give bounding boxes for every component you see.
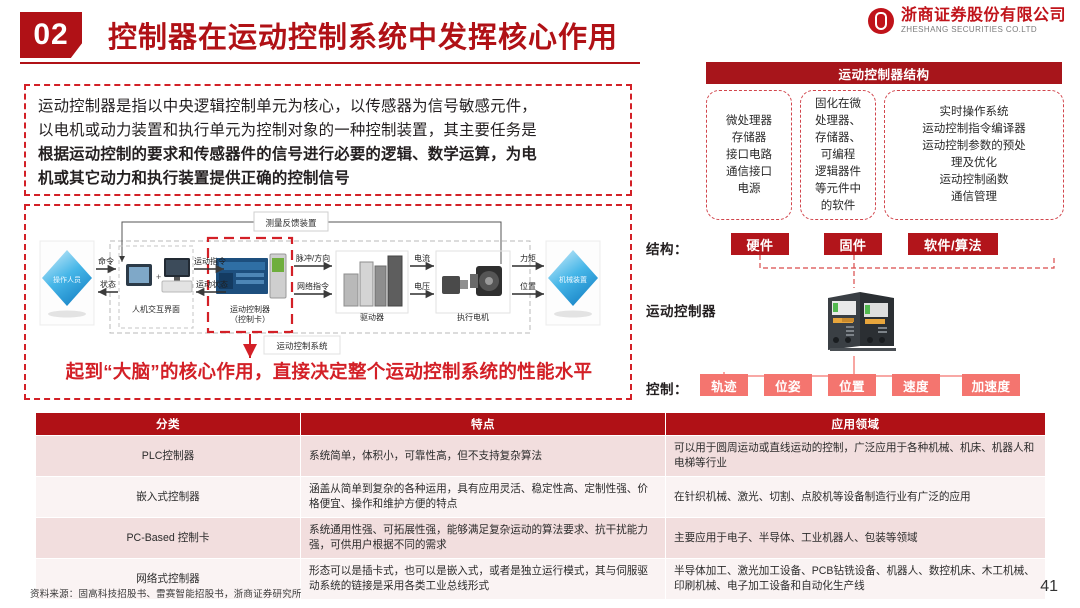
controller-comparison-table: 分类 特点 应用领域 PLC控制器 系统简单，体积小，可靠性高，但不支持复杂算法… xyxy=(35,412,1046,600)
software-item-0: 实时操作系统 xyxy=(940,104,1009,121)
definition-line-2: 以电机或动力装置和执行单元为控制对象的一种控制装置，其主要任务是 xyxy=(38,119,618,143)
svg-text:状态: 状态 xyxy=(100,279,116,289)
label-motion-controller: 运动控制器 xyxy=(646,300,716,320)
zheshang-logo-icon xyxy=(868,8,894,34)
cell-feature: 系统通用性强、可拓展性强，能够满足复杂运动的算法要求、抗干扰能力强，可供用户根据… xyxy=(301,518,666,559)
svg-text:运动控制器: 运动控制器 xyxy=(230,304,270,314)
firmware-item-2: 存储器、 xyxy=(815,130,861,147)
svg-text:运动指令: 运动指令 xyxy=(194,256,226,266)
control-item-pose: 位姿 xyxy=(764,374,812,396)
table-header-application: 应用领域 xyxy=(666,413,1046,436)
source-note: 资料来源：固高科技招股书、雷赛智能招股书，浙商证券研究所 xyxy=(30,586,302,600)
svg-text:位置: 位置 xyxy=(520,281,536,291)
cell-application: 在针织机械、激光、切割、点胶机等设备制造行业有广泛的应用 xyxy=(666,477,1046,518)
firmware-item-4: 逻辑器件 xyxy=(815,164,861,181)
control-item-trajectory: 轨迹 xyxy=(700,374,748,396)
svg-text:力矩: 力矩 xyxy=(520,253,536,263)
control-item-speed: 速度 xyxy=(892,374,940,396)
structure-column-firmware: 固化在微 处理器、 存储器、 可编程 逻辑器件 等元件中 的软件 xyxy=(800,90,876,220)
svg-text:网络指令: 网络指令 xyxy=(297,281,329,291)
hardware-item-0: 微处理器 xyxy=(726,113,772,130)
table-row: PLC控制器 系统简单，体积小，可靠性高，但不支持复杂算法 可以用于圆周运动或直… xyxy=(36,436,1046,477)
svg-text:执行电机: 执行电机 xyxy=(457,312,489,322)
software-item-1: 运动控制指令编译器 xyxy=(922,121,1026,138)
flow-diagram-panel: 测量反馈装置 操作人员 + 人机交互界面 运动控制器 xyxy=(24,204,632,400)
software-item-4: 运动控制函数 xyxy=(940,172,1009,189)
cell-application: 半导体加工、激光加工设备、PCB钻铣设备、机器人、数控机床、木工机械、印刷机械、… xyxy=(666,559,1046,600)
tag-hardware: 硬件 xyxy=(731,233,789,255)
hardware-item-1: 存储器 xyxy=(732,130,767,147)
svg-text:驱动器: 驱动器 xyxy=(360,312,384,322)
table-header-row: 分类 特点 应用领域 xyxy=(36,413,1046,436)
cell-application: 可以用于圆周运动或直线运动的控制，广泛应用于各种机械、机床、机器人和电梯等行业 xyxy=(666,436,1046,477)
title-underline xyxy=(20,62,640,64)
logo-company-en: ZHESHANG SECURITIES CO.LTD xyxy=(901,25,1066,35)
svg-text:操作人员: 操作人员 xyxy=(53,275,81,284)
definition-line-4: 机或其它动力和执行装置提供正确的控制信号 xyxy=(38,167,618,191)
svg-text:人机交互界面: 人机交互界面 xyxy=(132,304,180,314)
svg-text:运动状态: 运动状态 xyxy=(196,279,228,289)
page-number: 41 xyxy=(1040,578,1058,596)
definition-line-3: 根据运动控制的要求和传感器件的信号进行必要的逻辑、数学运算，为电 xyxy=(38,143,618,167)
hardware-item-3: 通信接口 xyxy=(726,164,772,181)
cell-category: PC-Based 控制卡 xyxy=(36,518,301,559)
motion-control-flow-diagram: 测量反馈装置 操作人员 + 人机交互界面 运动控制器 xyxy=(26,206,630,366)
company-logo: 浙商证券股份有限公司 ZHESHANG SECURITIES CO.LTD xyxy=(868,8,1066,34)
definition-callout: 运动控制器是指以中央逻辑控制单元为核心，以传感器为信号敏感元件， 以电机或动力装… xyxy=(24,84,632,196)
software-item-3: 理及优化 xyxy=(951,155,997,172)
software-item-5: 通信管理 xyxy=(951,189,997,206)
structure-panel-title: 运动控制器结构 xyxy=(706,62,1062,84)
firmware-item-6: 的软件 xyxy=(821,198,856,215)
cell-feature: 涵盖从简单到复杂的各种运用，具有应用灵活、稳定性高、定制性强、价格便宜、操作和维… xyxy=(301,477,666,518)
slide-root: 02 控制器在运动控制系统中发挥核心作用 浙商证券股份有限公司 ZHESHANG… xyxy=(0,0,1080,608)
section-number-badge: 02 xyxy=(20,12,82,58)
cell-application: 主要应用于电子、半导体、工业机器人、包装等领域 xyxy=(666,518,1046,559)
cell-category: 嵌入式控制器 xyxy=(36,477,301,518)
svg-text:电流: 电流 xyxy=(414,253,430,263)
firmware-item-3: 可编程 xyxy=(821,147,856,164)
definition-line-1: 运动控制器是指以中央逻辑控制单元为核心，以传感器为信号敏感元件， xyxy=(38,95,618,119)
software-item-2: 运动控制参数的预处 xyxy=(922,138,1026,155)
control-item-position: 位置 xyxy=(828,374,876,396)
svg-text:运动控制系统: 运动控制系统 xyxy=(276,341,328,351)
svg-text:测量反馈装置: 测量反馈装置 xyxy=(265,218,317,228)
firmware-item-0: 固化在微 xyxy=(815,96,861,113)
hardware-item-4: 电源 xyxy=(738,181,761,198)
cell-category: PLC控制器 xyxy=(36,436,301,477)
logo-company-cn: 浙商证券股份有限公司 xyxy=(901,8,1066,25)
svg-text:命令: 命令 xyxy=(98,256,114,266)
page-title: 控制器在运动控制系统中发挥核心作用 xyxy=(108,14,618,56)
hardware-item-2: 接口电路 xyxy=(726,147,772,164)
table-header-category: 分类 xyxy=(36,413,301,436)
firmware-item-1: 处理器、 xyxy=(815,113,861,130)
motion-controller-device-image xyxy=(820,288,906,354)
cell-feature: 形态可以是插卡式，也可以是嵌入式，或者是独立运行模式，其与伺服驱动系统的链接是采… xyxy=(301,559,666,600)
svg-text:电压: 电压 xyxy=(414,281,430,291)
label-structure: 结构： xyxy=(646,238,688,258)
svg-text:机械装置: 机械装置 xyxy=(559,275,587,284)
structure-column-hardware: 微处理器 存储器 接口电路 通信接口 电源 xyxy=(706,90,792,220)
structure-column-software: 实时操作系统 运动控制指令编译器 运动控制参数的预处 理及优化 运动控制函数 通… xyxy=(884,90,1064,220)
table-row: 嵌入式控制器 涵盖从简单到复杂的各种运用，具有应用灵活、稳定性高、定制性强、价格… xyxy=(36,477,1046,518)
key-takeaway-text: 起到“大脑”的核心作用，直接决定整个运动控制系统的性能水平 xyxy=(40,358,618,384)
table-row: PC-Based 控制卡 系统通用性强、可拓展性强，能够满足复杂运动的算法要求、… xyxy=(36,518,1046,559)
tag-firmware: 固件 xyxy=(824,233,882,255)
control-item-acceleration: 加速度 xyxy=(962,374,1020,396)
cell-feature: 系统简单，体积小，可靠性高，但不支持复杂算法 xyxy=(301,436,666,477)
logo-text-block: 浙商证券股份有限公司 ZHESHANG SECURITIES CO.LTD xyxy=(901,8,1066,34)
svg-text:（控制卡）: （控制卡） xyxy=(230,314,270,324)
svg-text:脉冲/方向: 脉冲/方向 xyxy=(296,253,330,263)
label-control: 控制： xyxy=(646,378,688,398)
svg-text:+: + xyxy=(156,272,161,282)
tag-software: 软件/算法 xyxy=(908,233,998,255)
firmware-item-5: 等元件中 xyxy=(815,181,861,198)
table-header-feature: 特点 xyxy=(301,413,666,436)
